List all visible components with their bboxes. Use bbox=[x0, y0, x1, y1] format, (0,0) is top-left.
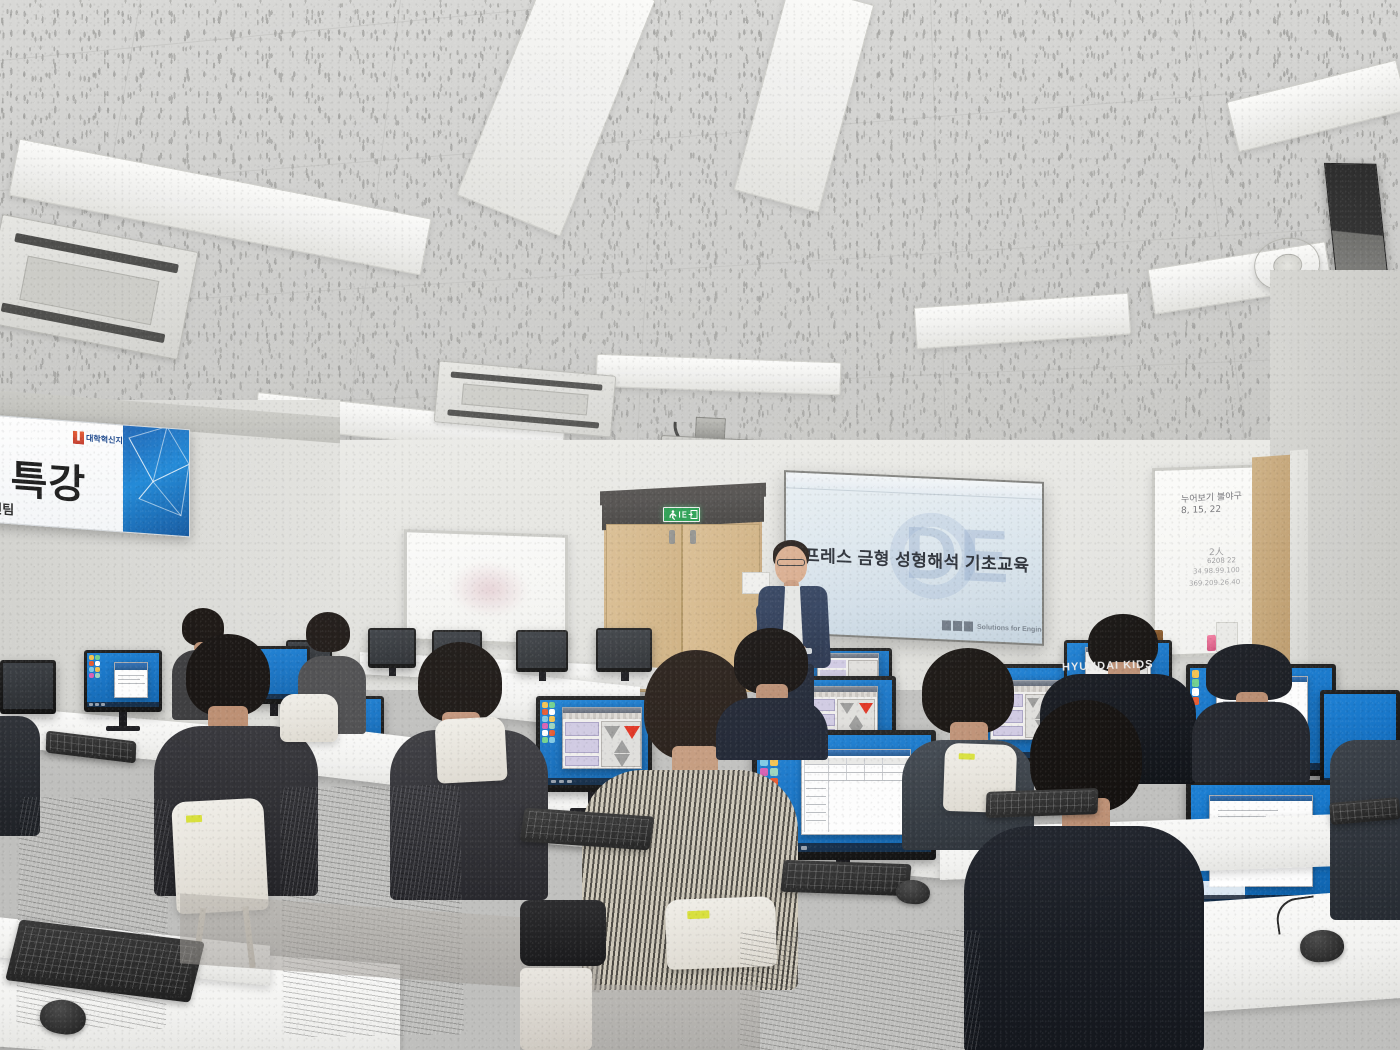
door-handle-right[interactable] bbox=[690, 530, 696, 544]
presenter-glasses bbox=[777, 559, 805, 566]
whiteboard-line-2: 8, 15, 22 bbox=[1181, 505, 1221, 516]
emergency-exit-sign bbox=[663, 507, 700, 522]
desktop-icon-grid[interactable] bbox=[89, 655, 100, 678]
mouse-center-front[interactable] bbox=[895, 879, 931, 906]
wall-corner-trim bbox=[1290, 449, 1308, 671]
spreadsheet-window[interactable] bbox=[801, 749, 911, 835]
shape-triangle-gray-1[interactable] bbox=[840, 703, 854, 714]
shape-triangle-red[interactable] bbox=[859, 703, 873, 714]
wall-wood-column bbox=[1252, 455, 1292, 668]
whiteboard-line-1: 누어보기 불야구 bbox=[1181, 488, 1242, 505]
taskbar[interactable] bbox=[87, 702, 159, 707]
desktop-icon-grid[interactable] bbox=[542, 702, 555, 743]
keyboard-right[interactable] bbox=[986, 788, 1099, 818]
student-hair bbox=[186, 634, 270, 716]
bag-under-desk bbox=[520, 900, 606, 966]
student-torso bbox=[1330, 740, 1400, 920]
stool-under-desk bbox=[520, 968, 592, 1050]
student-right-edge bbox=[1330, 740, 1400, 920]
shape-triangle-gray-2[interactable] bbox=[849, 715, 863, 726]
banner-logo-text: 대학혁신지 bbox=[86, 433, 123, 447]
student-torso bbox=[964, 826, 1204, 1050]
chair-label-sticker bbox=[687, 910, 709, 919]
student-center-dark bbox=[716, 628, 828, 758]
student-torso bbox=[716, 698, 828, 760]
whiteboard-line-6: 369.209.26.40 bbox=[1189, 578, 1240, 588]
slide-logo-icon bbox=[942, 620, 973, 631]
classroom-photo: 형 ㅏ 기술 특강 빌리티분과 · 교육혁신팀 대학혁신지 bbox=[0, 0, 1400, 1050]
student-hair bbox=[418, 642, 502, 722]
monitor-left-off-1 bbox=[0, 660, 56, 714]
banner-logo: 대학혁신지 bbox=[73, 431, 123, 448]
chair-back-row[interactable] bbox=[280, 694, 338, 742]
desktop-left-1[interactable] bbox=[87, 653, 159, 707]
banner-logo-icon bbox=[73, 431, 84, 445]
whiteboard-line-4: 6208 22 bbox=[1207, 556, 1236, 565]
whiteboard-line-5: 34.98.99.100 bbox=[1193, 566, 1240, 576]
student-torso bbox=[1192, 702, 1310, 782]
chair-foreground-center[interactable] bbox=[740, 930, 980, 1050]
banner-graphic bbox=[123, 419, 190, 537]
slide-logo: Solutions for Engineering bbox=[942, 620, 1042, 635]
door-handle-left[interactable] bbox=[669, 530, 675, 544]
chair-label-sticker bbox=[186, 815, 202, 823]
chair-label-sticker bbox=[959, 753, 975, 760]
keyboard-center-front[interactable] bbox=[780, 860, 911, 896]
chair-mid-right[interactable] bbox=[434, 716, 507, 784]
document-window[interactable] bbox=[114, 662, 148, 698]
whiteboard-smudge bbox=[449, 560, 529, 619]
student-hair bbox=[306, 612, 350, 652]
slide-logo-text: Solutions for Engineering bbox=[977, 623, 1042, 634]
student-right-cap bbox=[1196, 644, 1306, 774]
monitor-left-lit-1 bbox=[84, 650, 162, 712]
